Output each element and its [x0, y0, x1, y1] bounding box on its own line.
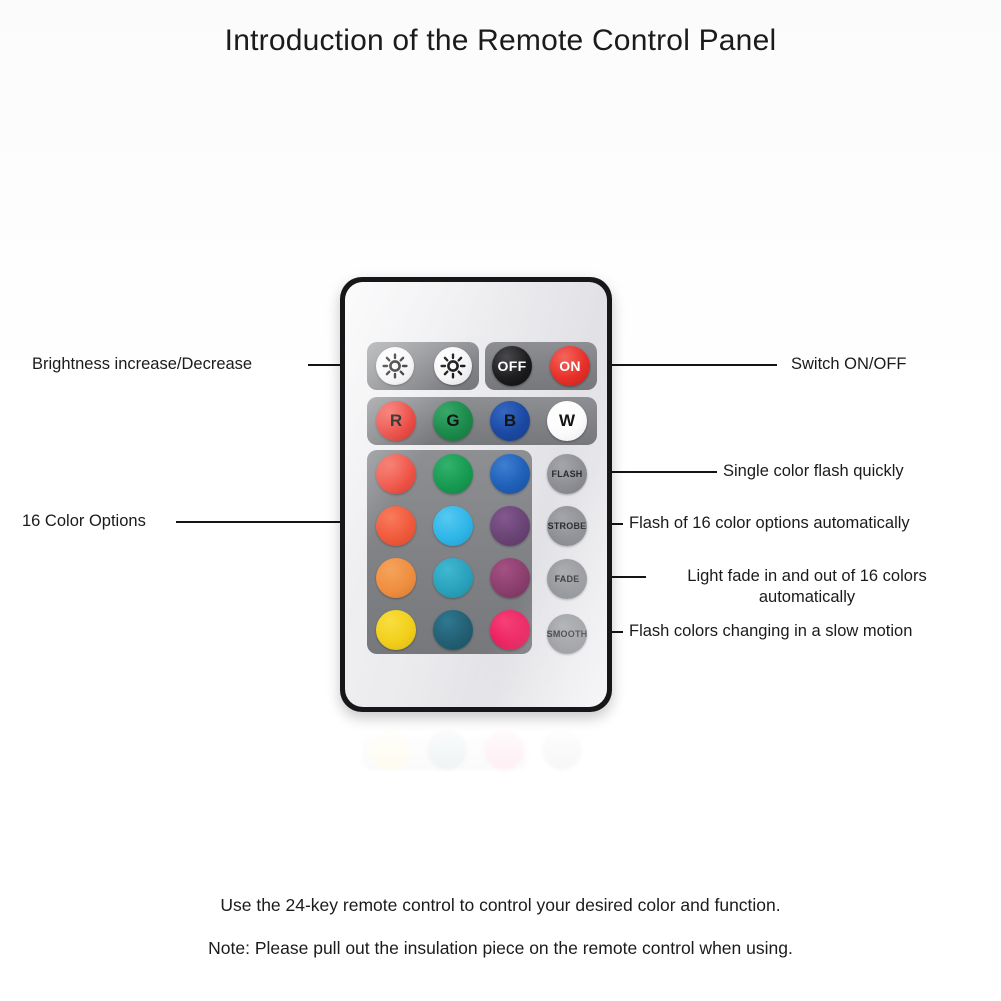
color-button-green[interactable]: G: [433, 401, 473, 441]
label-smooth: Flash colors changing in a slow motion: [629, 621, 912, 642]
label-switch-onoff: Switch ON/OFF: [791, 354, 907, 375]
color-swatch[interactable]: [490, 610, 530, 650]
sun-icon: [440, 353, 466, 379]
color-button-blue[interactable]: B: [490, 401, 530, 441]
power-off-button[interactable]: OFF: [492, 346, 532, 386]
diagram-canvas: Introduction of the Remote Control Panel…: [0, 0, 1001, 1001]
label-strobe: Flash of 16 color options automatically: [629, 513, 910, 534]
color-button-white[interactable]: W: [547, 401, 587, 441]
color-swatch[interactable]: [433, 558, 473, 598]
brightness-decrease-button[interactable]: [434, 347, 472, 385]
color-button-red[interactable]: R: [376, 401, 416, 441]
remote-control-device: OFF ON R G B W FLASH: [340, 277, 612, 712]
footer-usage-note: Use the 24-key remote control to control…: [0, 895, 1001, 916]
color-swatch[interactable]: [376, 454, 416, 494]
function-button-smooth[interactable]: SMOOTH: [547, 614, 587, 654]
label-brightness: Brightness increase/Decrease: [32, 354, 252, 375]
page-title: Introduction of the Remote Control Panel: [0, 24, 1001, 58]
color-swatch[interactable]: [376, 506, 416, 546]
label-fade: Light fade in and out of 16 colors autom…: [652, 566, 962, 608]
function-button-strobe[interactable]: STROBE: [547, 506, 587, 546]
color-swatch[interactable]: [490, 454, 530, 494]
brightness-increase-button[interactable]: [376, 347, 414, 385]
color-swatch[interactable]: [433, 454, 473, 494]
color-swatch[interactable]: [490, 558, 530, 598]
footer-insulation-note: Note: Please pull out the insulation pie…: [0, 938, 1001, 959]
remote-faceplate: OFF ON R G B W FLASH: [345, 282, 607, 707]
color-swatch[interactable]: [433, 506, 473, 546]
label-color-options: 16 Color Options: [22, 511, 146, 532]
color-swatch[interactable]: [433, 610, 473, 650]
function-button-fade[interactable]: FADE: [547, 559, 587, 599]
color-swatch[interactable]: [490, 506, 530, 546]
color-swatch[interactable]: [376, 558, 416, 598]
power-on-button[interactable]: ON: [550, 346, 590, 386]
remote-reflection: [340, 713, 612, 833]
color-swatch[interactable]: [376, 610, 416, 650]
function-button-flash[interactable]: FLASH: [547, 454, 587, 494]
label-flash: Single color flash quickly: [723, 461, 904, 482]
sun-icon: [382, 353, 408, 379]
